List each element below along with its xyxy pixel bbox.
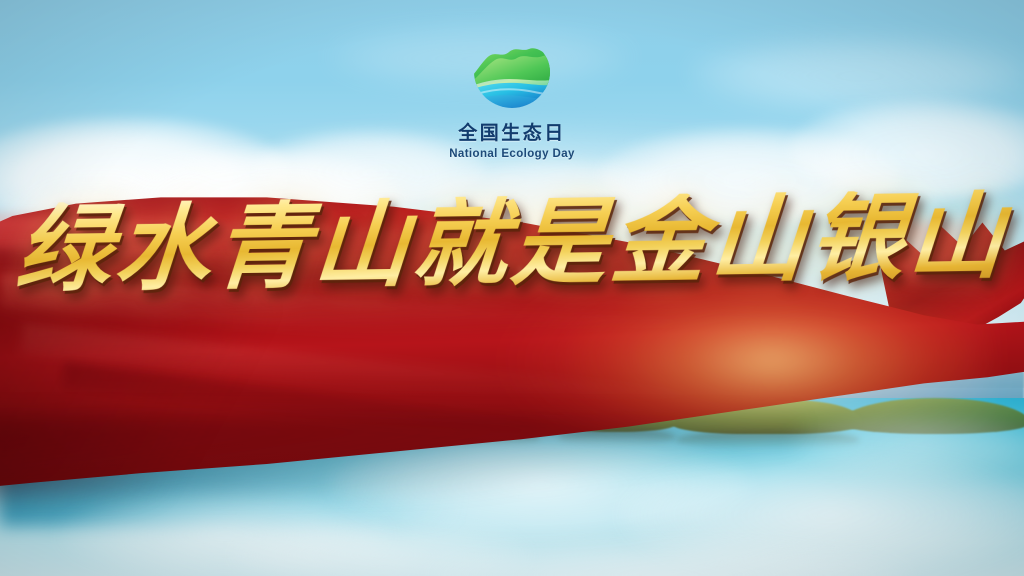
logo-title-en: National Ecology Day [449, 148, 575, 160]
page-title: 绿水青山就是金山银山 [0, 189, 1024, 298]
logo-title-cn: 全国生态日 [458, 118, 566, 145]
national-ecology-day-logo: 全国生态日 National Ecology Day [0, 36, 1024, 160]
mountain-water-leaf-emblem-icon [469, 36, 555, 110]
poster-canvas: 全国生态日 National Ecology Day 绿水青山就是金山银山 [0, 0, 1024, 576]
